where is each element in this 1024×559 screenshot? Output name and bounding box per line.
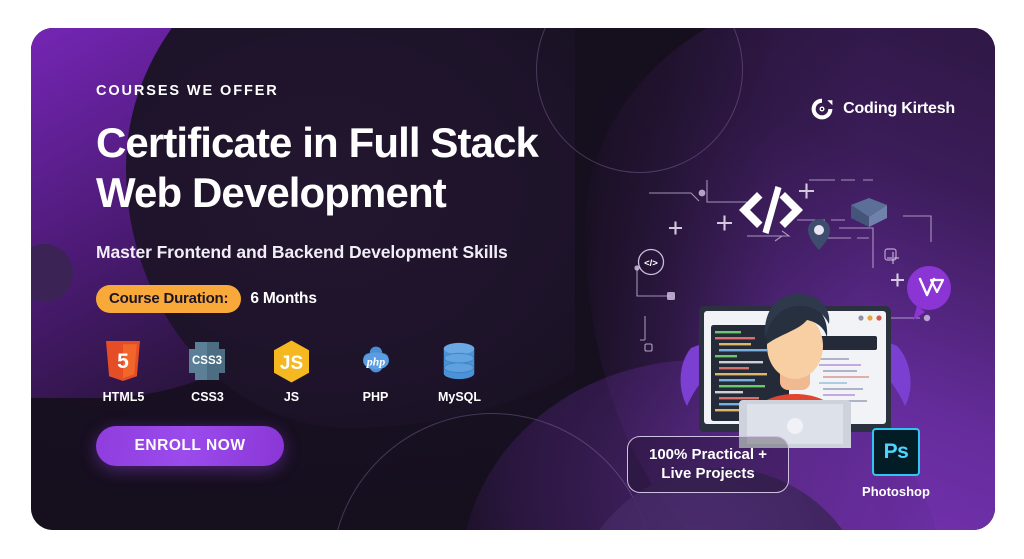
tech-item-php: php PHP xyxy=(348,339,403,404)
tech-item-javascript: JS JS xyxy=(264,339,319,404)
developer-at-laptop-illustration: </> xyxy=(629,168,959,448)
tech-label: JS xyxy=(284,390,299,404)
course-promo-banner: Coding Kirtesh COURSES WE OFFER Certific… xyxy=(31,28,995,530)
brand-logo[interactable]: Coding Kirtesh xyxy=(810,97,955,121)
banner-content-column: COURSES WE OFFER Certificate in Full Sta… xyxy=(96,83,616,466)
photoshop-label: Photoshop xyxy=(862,484,930,499)
tech-item-html5: 5 HTML5 xyxy=(96,339,151,404)
svg-text:php: php xyxy=(365,354,385,368)
headline-line-2: Web Development xyxy=(96,169,446,216)
mysql-icon xyxy=(439,339,481,383)
svg-text:5: 5 xyxy=(117,350,129,373)
tech-label: CSS3 xyxy=(191,390,224,404)
practical-projects-badge: 100% Practical + Live Projects xyxy=(627,436,789,493)
coding-kirtesh-mark-icon xyxy=(810,97,834,121)
html5-icon: 5 xyxy=(103,339,145,383)
headline-line-1: Certificate in Full Stack xyxy=(96,119,538,166)
php-icon: php xyxy=(355,339,397,383)
practical-badge-line-2: Live Projects xyxy=(661,465,754,484)
tech-stack-list: 5 HTML5 CSS3 CSS3 xyxy=(96,339,616,404)
eyebrow-text: COURSES WE OFFER xyxy=(96,83,616,99)
enroll-now-button[interactable]: ENROLL NOW xyxy=(96,426,284,466)
css3-icon: CSS3 xyxy=(187,339,229,383)
logo-name: Coding Kirtesh xyxy=(843,100,955,118)
tech-item-css3: CSS3 CSS3 xyxy=(180,339,235,404)
practical-badge-line-1: 100% Practical + xyxy=(649,446,767,465)
subheadline: Master Frontend and Backend Development … xyxy=(96,242,616,263)
tech-label: MySQL xyxy=(438,390,481,404)
page-title: Certificate in Full Stack Web Developmen… xyxy=(96,118,616,218)
tech-label: HTML5 xyxy=(103,390,145,404)
svg-text:CSS3: CSS3 xyxy=(191,355,221,367)
duration-label-chip: Course Duration: xyxy=(96,285,241,313)
javascript-icon: JS xyxy=(271,339,313,383)
tech-item-mysql: MySQL xyxy=(432,339,487,404)
photoshop-tool-item: Ps Photoshop xyxy=(861,428,931,499)
svg-text:JS: JS xyxy=(279,353,302,374)
course-duration-row: Course Duration: 6 Months xyxy=(96,285,616,313)
photoshop-icon: Ps xyxy=(872,428,920,476)
tech-label: PHP xyxy=(363,390,389,404)
duration-value: 6 Months xyxy=(250,290,316,308)
svg-text:</>: </> xyxy=(644,258,658,269)
